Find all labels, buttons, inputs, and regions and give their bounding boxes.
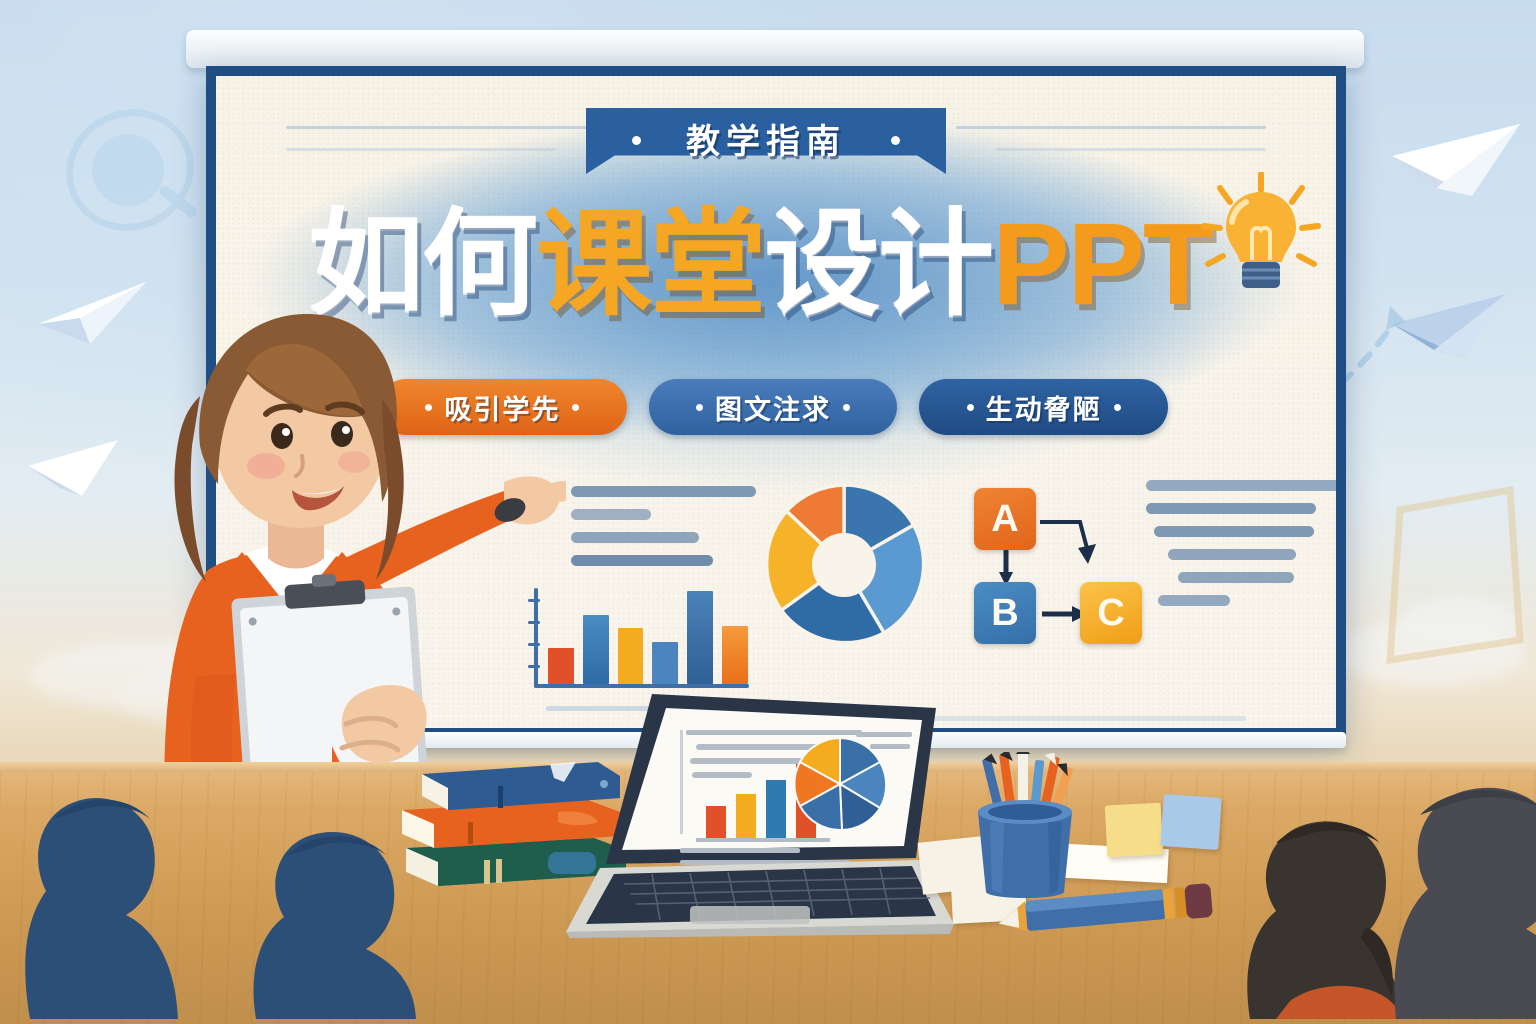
badge-dot-icon	[1114, 404, 1121, 411]
bar-3	[618, 628, 644, 684]
badge-dot-icon	[967, 404, 974, 411]
flow-node-a[interactable]: A	[974, 488, 1036, 550]
title-part-2: 课堂	[536, 206, 764, 322]
paper-sheet-motif-icon	[1380, 470, 1530, 700]
lightbulb-icon	[1196, 172, 1326, 300]
atom-motif-icon	[60, 110, 200, 230]
flow-node-b[interactable]: B	[974, 582, 1036, 644]
sticky-note-yellow	[1105, 803, 1164, 858]
donut-hole	[812, 533, 876, 597]
badge-2[interactable]: 图文注求	[649, 379, 898, 435]
bar-chart-bars	[548, 588, 748, 684]
bar-5	[687, 591, 713, 684]
abc-flow-diagram: A B C	[970, 482, 1150, 650]
bar-6	[722, 626, 748, 684]
text-placeholder-block-left	[571, 486, 761, 578]
bar-4	[652, 642, 678, 684]
paper-plane-icon	[1380, 118, 1530, 208]
badge-dot-icon	[696, 404, 703, 411]
title-part-3: 设计	[764, 206, 992, 322]
student-silhouette	[200, 759, 500, 1024]
laptop[interactable]	[540, 688, 960, 938]
badge-3-label: 生动脅陋	[986, 388, 1102, 427]
badge-2-label: 图文注求	[715, 388, 831, 427]
ribbon-banner: 教学指南	[586, 108, 946, 174]
ribbon-text: 教学指南	[586, 114, 946, 163]
text-placeholder-block-right	[1146, 480, 1336, 618]
donut-chart	[757, 478, 931, 652]
badge-dot-icon	[843, 404, 850, 411]
poster-canvas: A B C 教学指南 如何 课堂 设计	[0, 0, 1536, 1024]
pencil-cup	[960, 752, 1090, 902]
title-part-4: PPT	[992, 206, 1212, 322]
bar-2	[583, 615, 609, 684]
student-silhouette	[1376, 699, 1536, 1024]
badge-dot-icon	[572, 404, 579, 411]
bar-chart	[534, 588, 749, 688]
screen-roller-bar	[186, 30, 1364, 68]
badge-3[interactable]: 生动脅陋	[919, 379, 1168, 435]
flow-node-c[interactable]: C	[1080, 582, 1142, 644]
